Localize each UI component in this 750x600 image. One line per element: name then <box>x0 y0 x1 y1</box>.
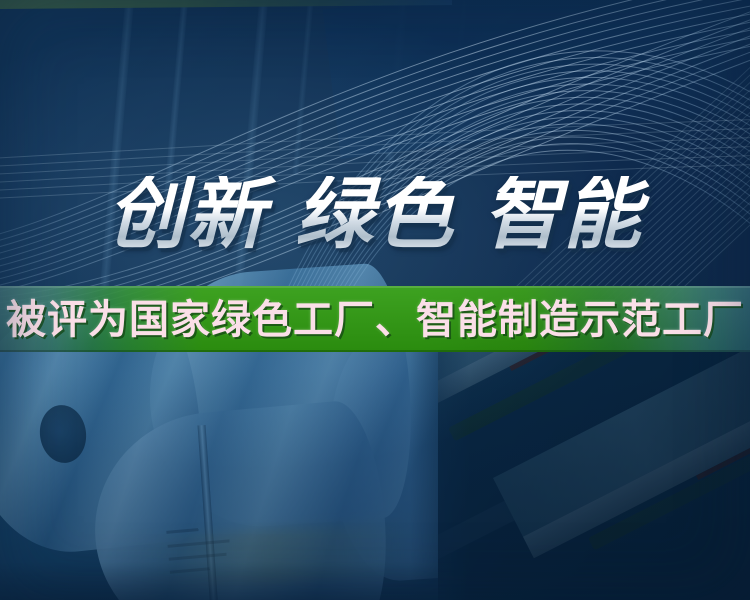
wave-line-overlay <box>0 0 750 320</box>
subtitle: 被评为国家绿色工厂、智能制造示范工厂 <box>0 296 750 344</box>
headline-word-smart: 智能 <box>483 170 643 260</box>
headline: 创新绿色智能 <box>0 176 750 254</box>
promo-banner: 创新绿色智能 被评为国家绿色工厂、智能制造示范工厂 <box>0 0 750 600</box>
headline-word-innovation: 创新 <box>107 170 267 260</box>
headline-word-green: 绿色 <box>295 170 455 260</box>
